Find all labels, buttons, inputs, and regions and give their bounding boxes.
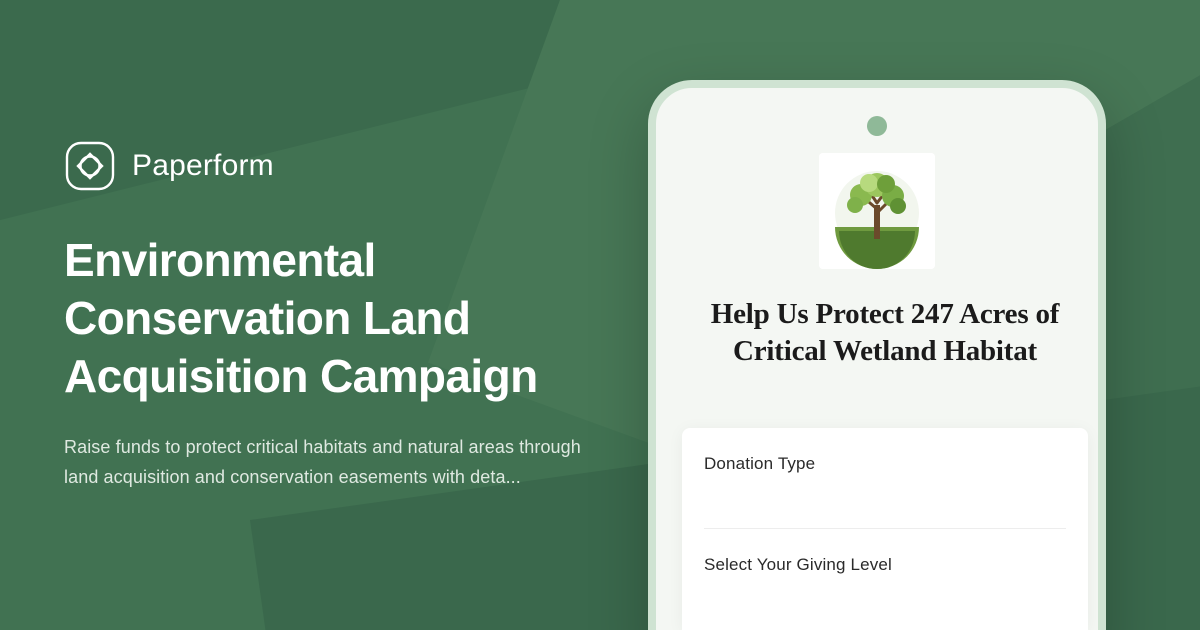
page-title: Environmental Conservation Land Acquisit… xyxy=(64,232,664,406)
paperform-logo-icon xyxy=(64,140,116,192)
form-field-giving-level[interactable]: Select Your Giving Level xyxy=(704,529,1066,630)
phone-preview: Help Us Protect 247 Acres of Critical We… xyxy=(648,80,1108,630)
brand-name: Paperform xyxy=(132,149,274,183)
form-field-donation-type[interactable]: Donation Type xyxy=(704,428,1066,529)
hero-content: Paperform Environmental Conservation Lan… xyxy=(64,140,684,492)
form-field-label: Donation Type xyxy=(704,454,815,474)
form-title: Help Us Protect 247 Acres of Critical We… xyxy=(682,296,1088,369)
social-share-card: Paperform Environmental Conservation Lan… xyxy=(0,0,1200,630)
form-field-label: Select Your Giving Level xyxy=(704,555,892,575)
camera-dot-icon xyxy=(867,116,887,136)
phone-frame: Help Us Protect 247 Acres of Critical We… xyxy=(648,80,1106,630)
brand-lockup: Paperform xyxy=(64,140,684,192)
page-description: Raise funds to protect critical habitats… xyxy=(64,432,594,492)
tree-in-circle-logo-icon xyxy=(819,153,935,269)
form-fields-card: Donation Type Select Your Giving Level xyxy=(682,428,1088,630)
